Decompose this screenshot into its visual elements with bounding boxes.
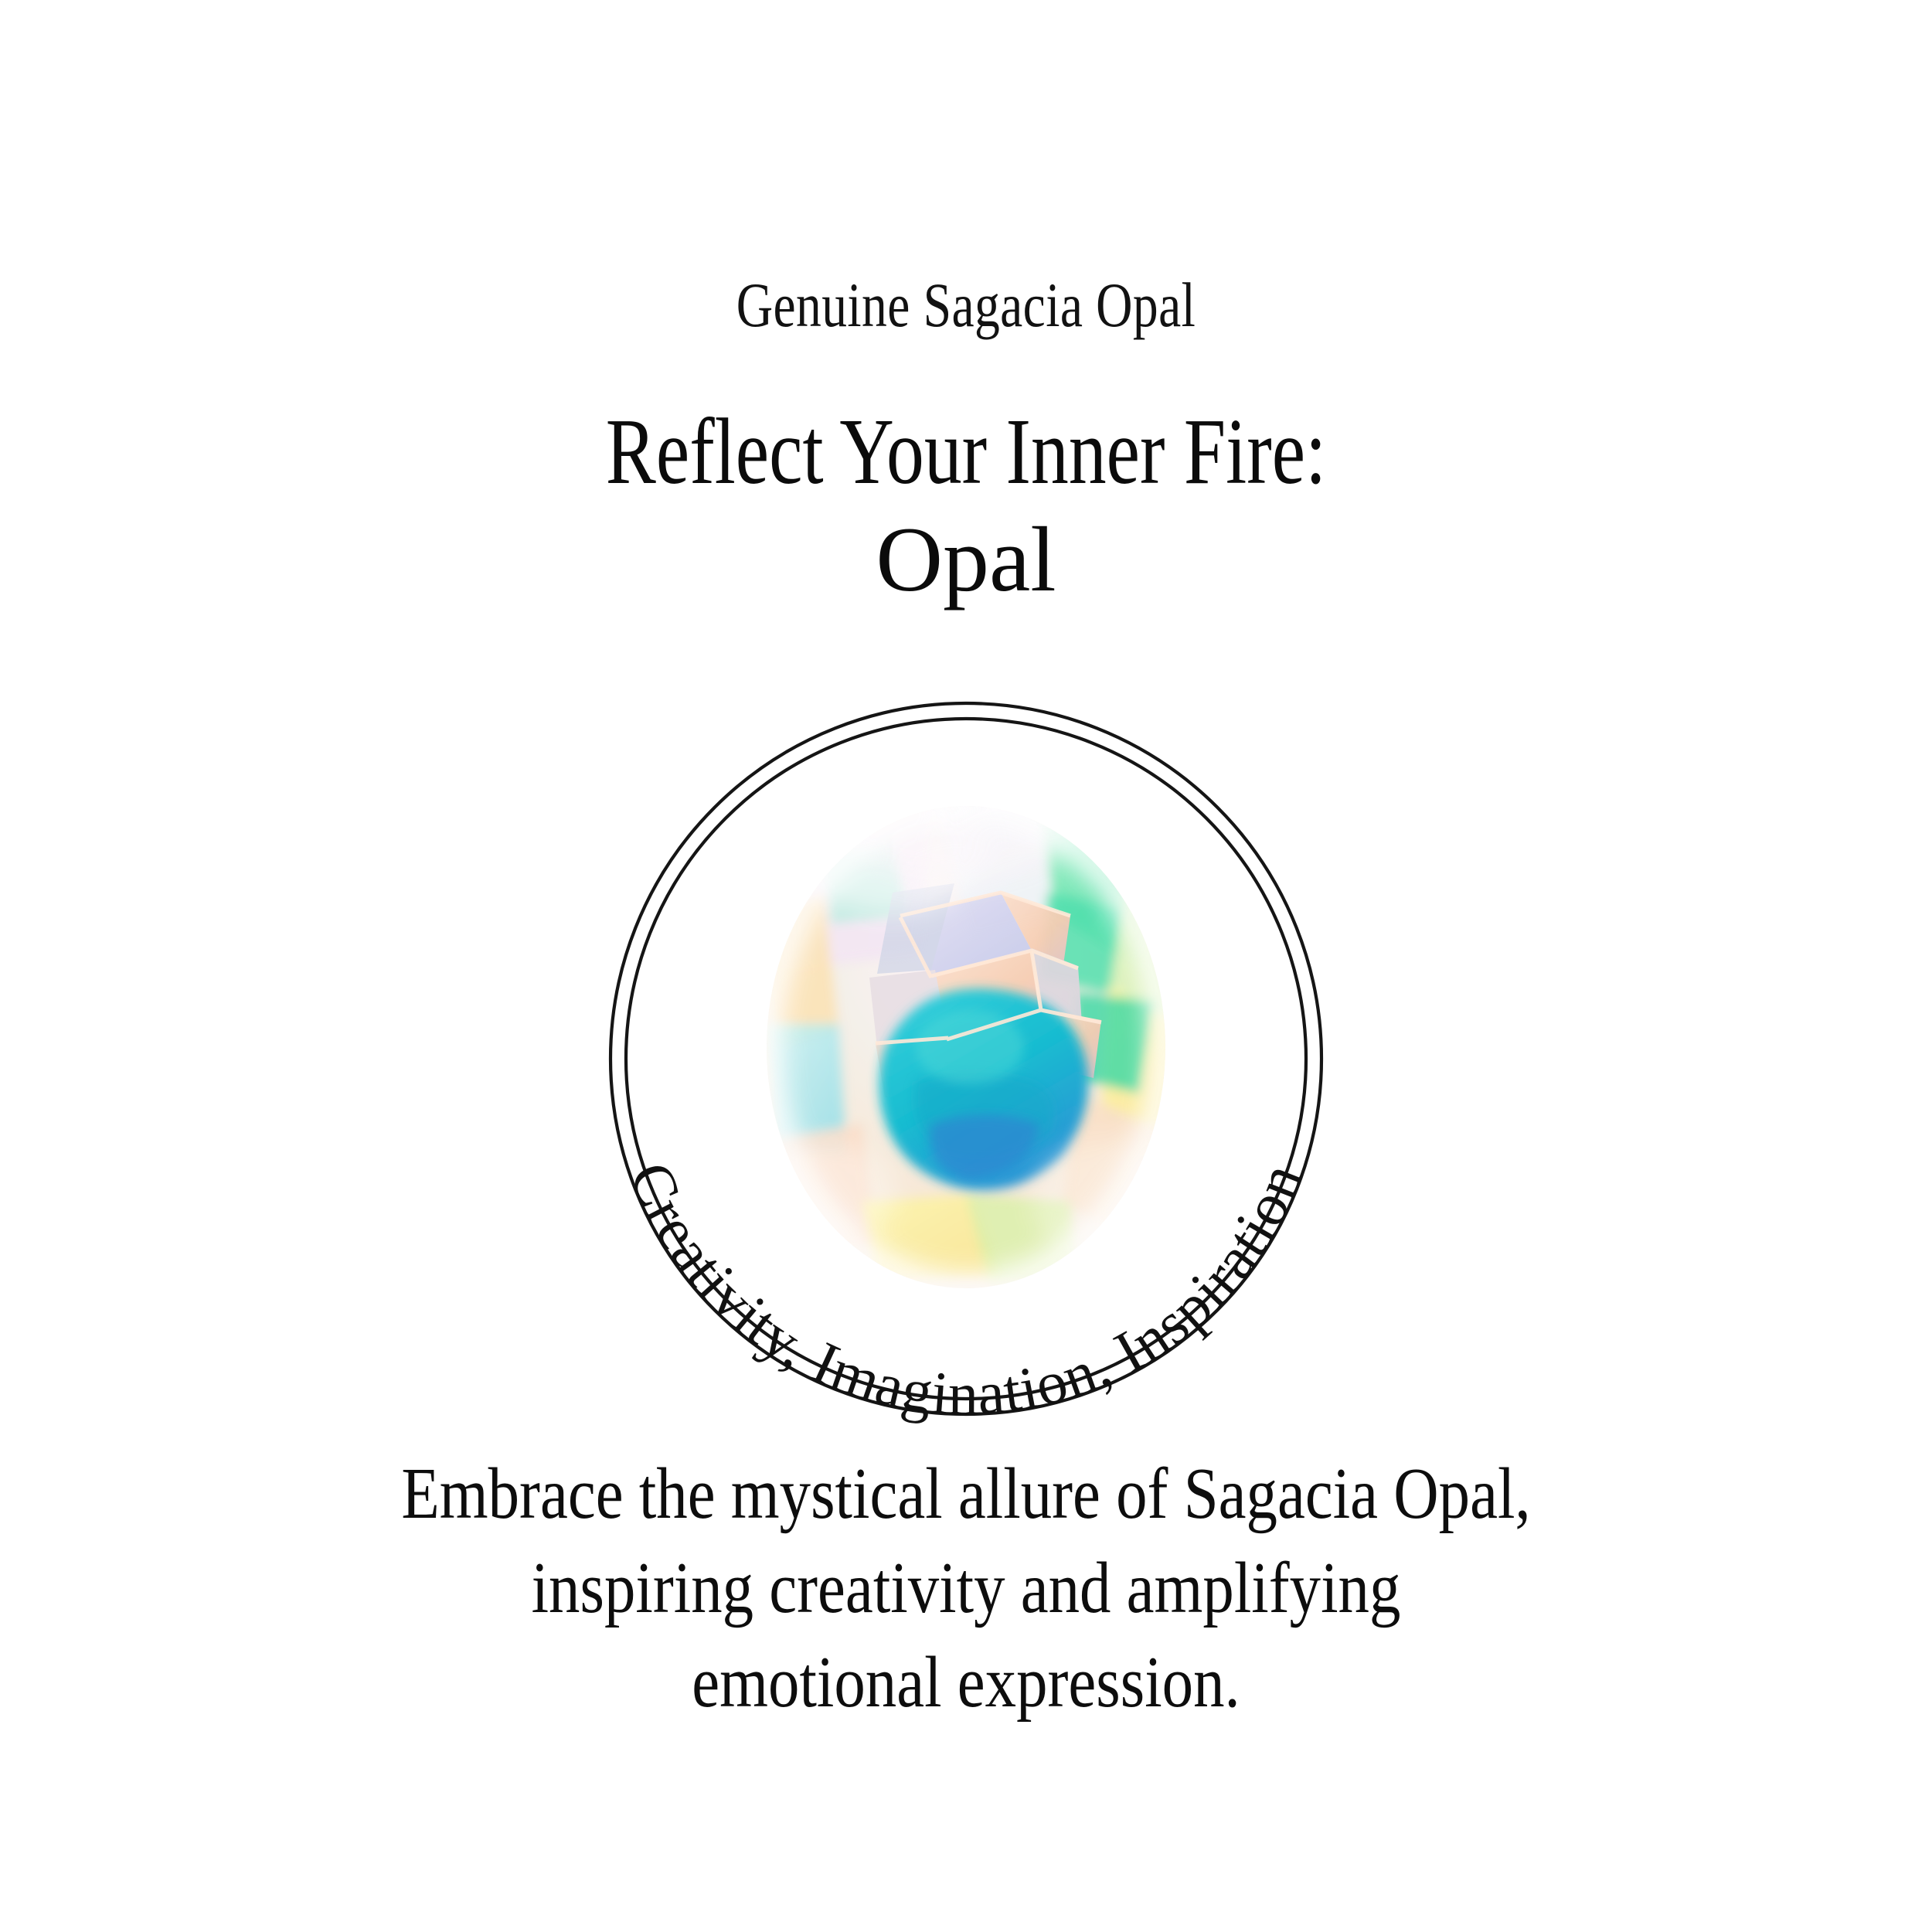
headline-gemstone-name: Opal [0, 508, 1932, 611]
description-line-1: Embrace the mystical allure of Sagacia O… [355, 1447, 1577, 1541]
product-card: Genuine Sagacia Opal Reflect Your Inner … [0, 0, 1932, 1932]
brand-eyebrow-text: Genuine Sagacia Opal [193, 272, 1739, 338]
opal-gemstone [750, 773, 1186, 1288]
headline-primary-line: Reflect Your Inner Fire: [193, 402, 1739, 502]
description-line-2: inspiring creativity and amplifying [355, 1541, 1577, 1635]
page-title: Reflect Your Inner Fire: Opal [0, 402, 1932, 612]
description-line-3: emotional expression. [355, 1635, 1577, 1730]
gemstone-emblem: Creativity, Imagination, Inspiration [568, 661, 1364, 1457]
product-description: Embrace the mystical allure of Sagacia O… [355, 1447, 1577, 1730]
